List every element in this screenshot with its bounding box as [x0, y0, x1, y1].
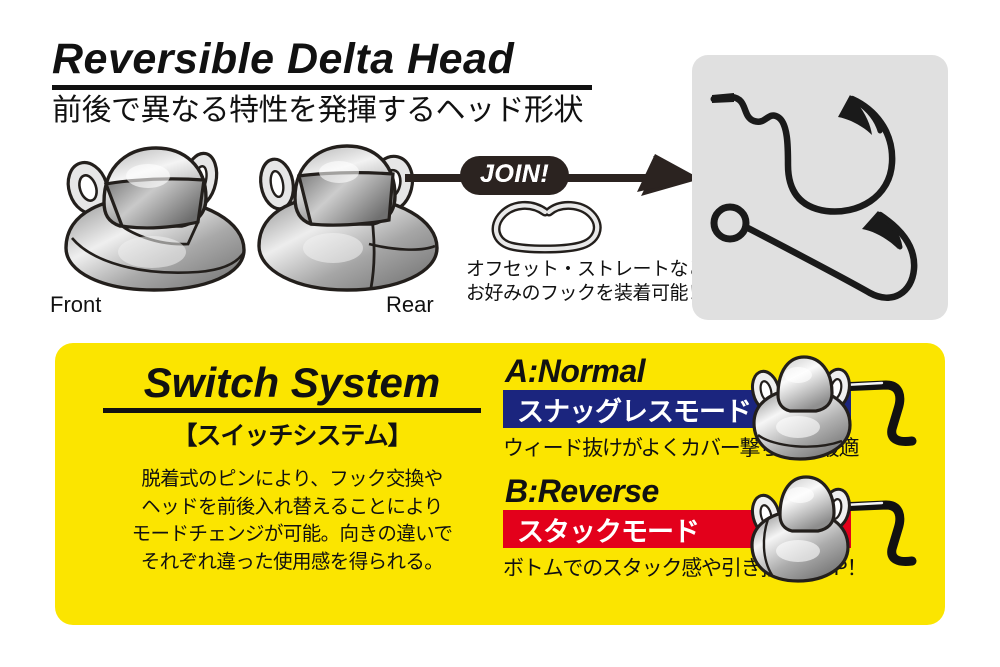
hook-caption-line-2: お好みのフックを装着可能！ [466, 282, 707, 306]
front-label: Front [50, 292, 101, 318]
mode-b-reverse: B:Reverse スタックモード ボトムでのスタック感や引き抵抗がUP！ [503, 475, 943, 582]
hook-caption: オフセット・ストレートなど お好みのフックを装着可能！ [466, 258, 707, 307]
infographic-root: Reversible Delta Head 前後で異なる特性を発揮するヘッド形状 [0, 0, 1000, 667]
mode-a-banner-label: スナッグレスモード [503, 390, 751, 429]
hooks-panel [692, 55, 948, 320]
snap-clip-icon [487, 198, 607, 253]
switch-system-panel: Switch System 【スイッチシステム】 脱着式のピンにより、フック交換… [55, 343, 945, 625]
mode-b-banner-label: スタックモード [503, 510, 699, 549]
switch-description-line-1: 脱着式のピンにより、フック交換や [87, 466, 497, 494]
switch-system-heading: Switch System 【スイッチシステム】 脱着式のピンにより、フック交換… [87, 361, 497, 577]
mode-a-title: A:Normal [505, 355, 943, 387]
rear-label: Rear [386, 292, 434, 318]
mode-a-caption: ウィード抜けがよくカバー撃ちにも最適 [503, 432, 943, 462]
switch-description-line-4: それぞれ違った使用感を得られる。 [87, 549, 497, 577]
switch-description: 脱着式のピンにより、フック交換や ヘッドを前後入れ替えることにより モードチェン… [87, 466, 497, 577]
offset-worm-hook-icon [714, 97, 892, 212]
title-japanese: 前後で異なる特性を発揮するヘッド形状 [52, 94, 652, 129]
mode-b-title: B:Reverse [505, 475, 943, 507]
switch-title-underline [103, 408, 481, 413]
mode-a-normal: A:Normal スナッグレスモード ウィード抜けがよくカバー撃ちにも最適 [503, 355, 943, 462]
mode-a-banner: スナッグレスモード [503, 390, 851, 428]
page-title: Reversible Delta Head 前後で異なる特性を発揮するヘッド形状 [52, 38, 652, 129]
mode-b-caption: ボトムでのスタック感や引き抵抗がUP！ [503, 552, 943, 582]
switch-title-english: Switch System [87, 361, 497, 405]
switch-description-line-2: ヘッドを前後入れ替えることにより [87, 494, 497, 522]
snap-clip-illustration [487, 198, 607, 253]
join-badge: JOIN! [460, 156, 569, 195]
hook-caption-line-1: オフセット・ストレートなど [466, 258, 707, 282]
hooks-illustration [692, 55, 948, 320]
title-underline [52, 85, 592, 90]
title-english: Reversible Delta Head [52, 38, 652, 81]
switch-description-line-3: モードチェンジが可能。向きの違いで [87, 521, 497, 549]
mode-b-banner: スタックモード [503, 510, 851, 548]
switch-title-japanese: 【スイッチシステム】 [87, 416, 497, 452]
